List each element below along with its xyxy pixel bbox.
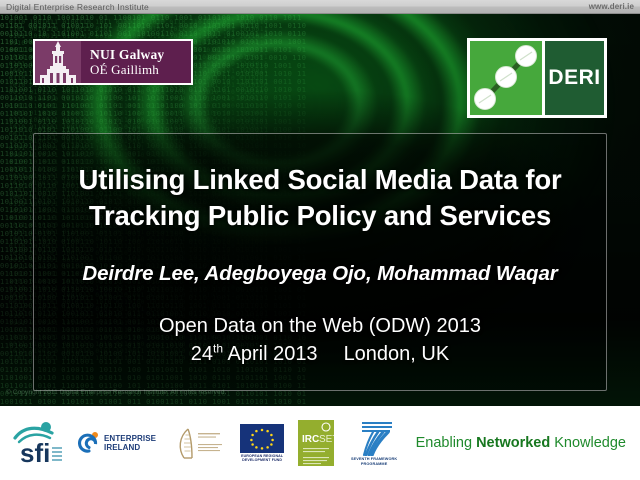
deri-wordmark: DERI <box>548 66 600 90</box>
sfi-logo-icon: sfi <box>12 420 64 466</box>
enterprise-ireland-wordmark: ENTERPRISE IRELAND <box>104 434 156 452</box>
irish-harp-icon <box>170 423 226 463</box>
date-day: 24 <box>191 343 213 365</box>
tagline-suffix: Knowledge <box>550 435 626 451</box>
presentation-slide: Digital Enterprise Research Institute ww… <box>0 0 640 480</box>
window-title-bar: Digital Enterprise Research Institute ww… <box>0 0 640 14</box>
sponsor-logo-enterprise-ireland: ENTERPRISE IRELAND <box>78 431 156 455</box>
venue-date-location: 24th April 2013London, UK <box>33 340 607 368</box>
institute-name: Digital Enterprise Research Institute <box>6 2 149 12</box>
university-tower-crest-icon <box>35 41 81 83</box>
date-ordinal: th <box>213 341 223 355</box>
tagline-prefix: Enabling <box>416 435 476 451</box>
website-url: www.deri.ie <box>589 2 634 11</box>
slide-authors: Deirdre Lee, Adegboyega Ojo, Mohammad Wa… <box>33 261 607 287</box>
location: London, UK <box>344 343 450 365</box>
title-line-1: Utilising Linked Social Media Data for <box>33 162 607 198</box>
sponsor-logo-fp7: SEVENTH FRAMEWORK PROGRAMME <box>348 420 400 466</box>
copyright-notice: © Copyright 2011 Digital Enterprise Rese… <box>6 389 226 396</box>
ircset-logo-icon: IRC SET <box>298 420 334 466</box>
eu-flag-icon <box>240 424 284 453</box>
slide-title: Utilising Linked Social Media Data for T… <box>33 162 607 234</box>
svg-text:sfi: sfi <box>20 438 50 466</box>
nuig-name-english: NUI Galway <box>90 47 191 62</box>
erdf-caption: EUROPEAN REGIONAL DEVELOPMENT FUND <box>241 454 283 463</box>
fp7-seven-icon <box>348 420 400 456</box>
slide-venue-block: Open Data on the Web (ODW) 2013 24th Apr… <box>33 312 607 368</box>
nui-galway-logo: NUI Galway OÉ Gaillimh <box>33 39 193 85</box>
title-line-2: Tracking Public Policy and Services <box>33 198 607 234</box>
fp7-caption: SEVENTH FRAMEWORK PROGRAMME <box>351 457 397 466</box>
svg-text:IRC: IRC <box>302 434 319 445</box>
deri-logo: DERI <box>467 38 607 118</box>
date-rest: April 2013 <box>228 343 318 365</box>
enterprise-ireland-spiral-icon <box>78 431 100 455</box>
sponsor-logo-erdf: EUROPEAN REGIONAL DEVELOPMENT FUND <box>240 424 284 463</box>
venue-name: Open Data on the Web (ODW) 2013 <box>33 312 607 340</box>
sponsor-logo-ircset: IRC SET <box>298 420 334 466</box>
nuig-name-irish: OÉ Gaillimh <box>90 62 191 77</box>
sponsor-logo-irish-government <box>170 423 226 463</box>
sponsor-footer: sfi ENTERPRISE IRELAND <box>0 406 640 480</box>
linked-nodes-icon <box>470 41 542 115</box>
svg-text:SET: SET <box>319 434 334 445</box>
sponsor-logo-sfi: sfi <box>12 420 64 466</box>
tagline-bold: Networked <box>476 435 550 451</box>
deri-tagline: Enabling Networked Knowledge <box>416 435 626 451</box>
